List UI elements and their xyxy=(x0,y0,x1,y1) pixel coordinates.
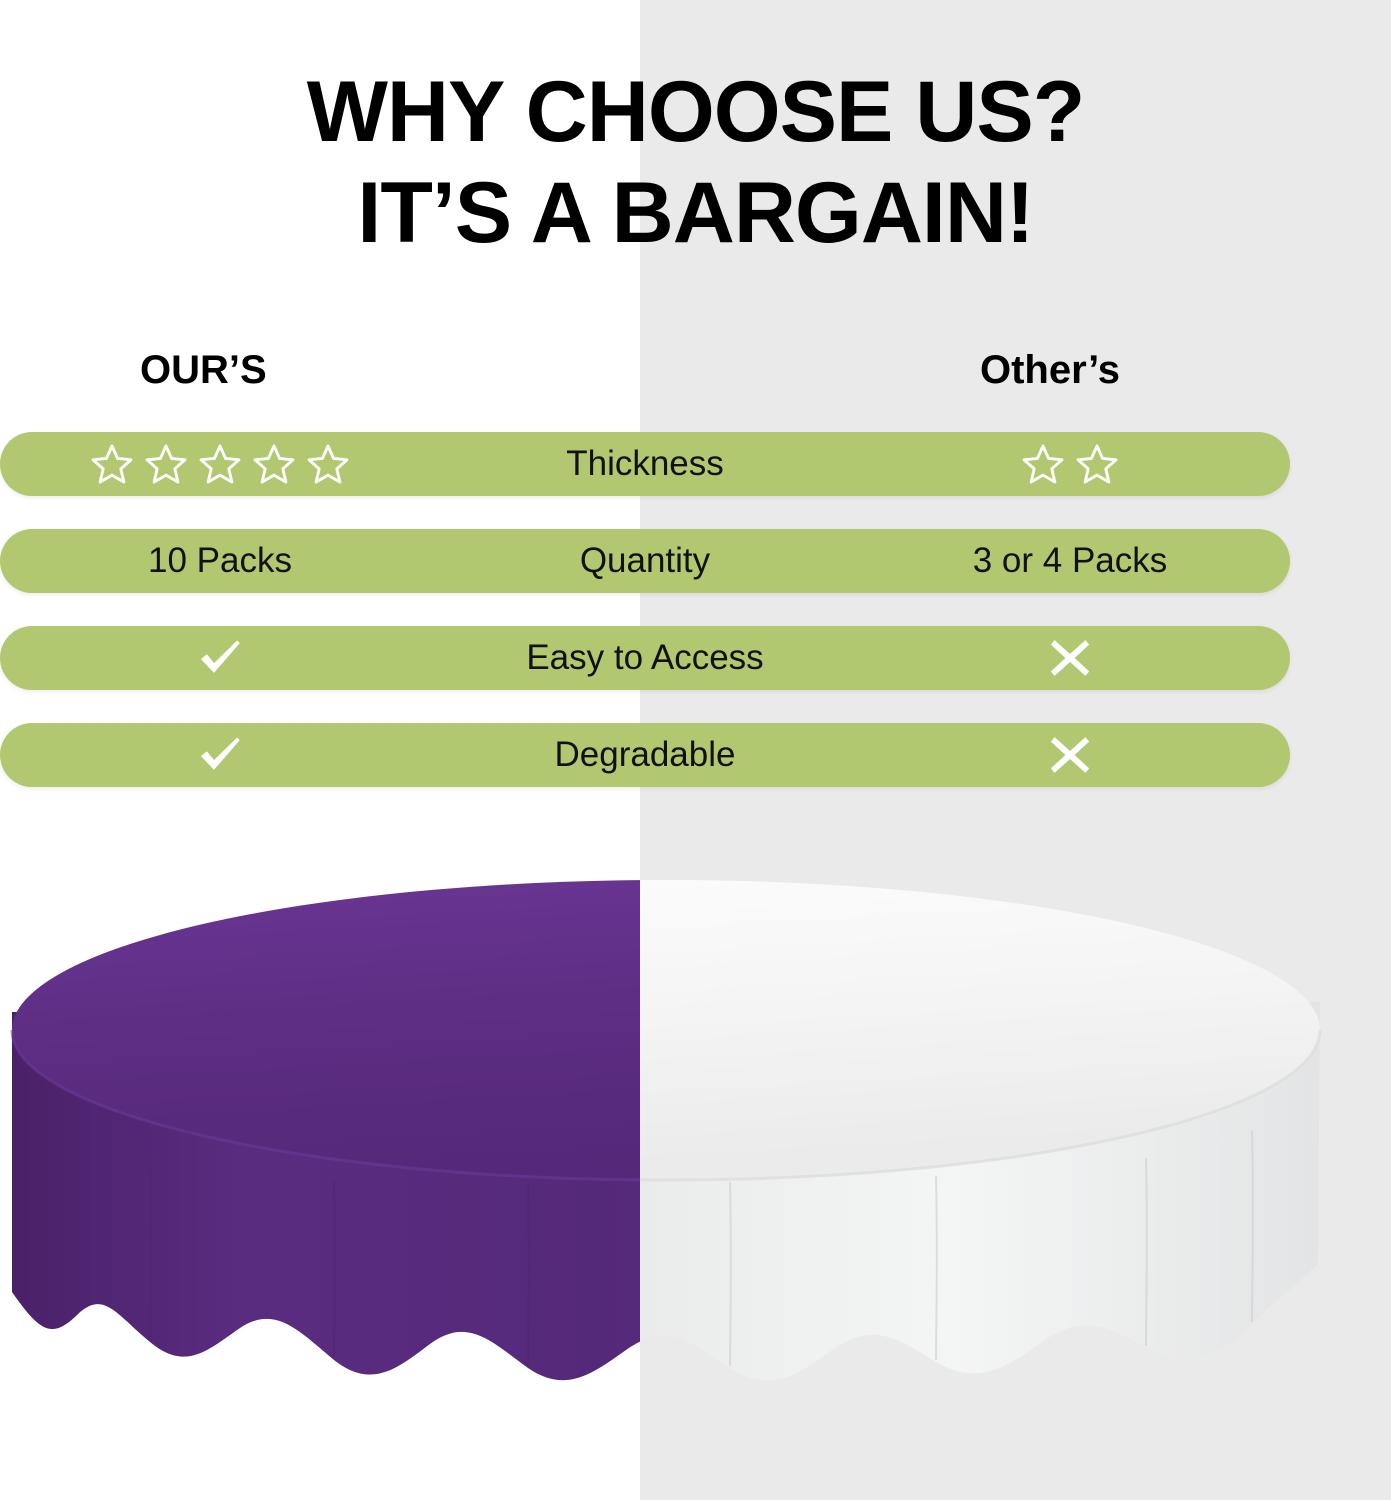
check-icon xyxy=(193,631,247,685)
comparison-table: Thickness10 PacksQuantity3 or 4 PacksEas… xyxy=(0,432,1391,820)
star-outline-icon xyxy=(305,441,351,487)
star-outline-icon xyxy=(1020,441,1066,487)
cell-value-ours: 10 Packs xyxy=(148,541,292,581)
infographic-page: WHY CHOOSE US? IT’S A BARGAIN! OUR’S Oth… xyxy=(0,0,1391,1500)
star-outline-icon xyxy=(197,441,243,487)
feature-label: Thickness xyxy=(566,444,724,484)
feature-label: Easy to Access xyxy=(526,638,763,678)
star-outline-icon xyxy=(251,441,297,487)
cell-ours xyxy=(0,723,440,787)
cell-ours xyxy=(0,432,440,496)
cell-ours xyxy=(0,626,440,690)
star-rating-ours xyxy=(89,441,351,487)
star-outline-icon xyxy=(143,441,189,487)
comparison-row: Thickness xyxy=(0,432,1290,496)
cell-value-others: 3 or 4 Packs xyxy=(973,541,1168,581)
comparison-row: 10 PacksQuantity3 or 4 Packs xyxy=(0,529,1290,593)
cell-others xyxy=(850,432,1290,496)
check-icon xyxy=(193,728,247,782)
column-header-ours: OUR’S xyxy=(140,348,267,393)
cell-feature-label: Thickness xyxy=(440,432,850,496)
cell-ours: 10 Packs xyxy=(0,529,440,593)
cell-others xyxy=(850,626,1290,690)
cross-icon xyxy=(1045,730,1095,780)
cell-others xyxy=(850,723,1290,787)
product-image xyxy=(0,862,1391,1500)
cell-feature-label: Degradable xyxy=(440,723,850,787)
feature-label: Quantity xyxy=(580,541,710,581)
star-outline-icon xyxy=(1074,441,1120,487)
star-rating-others xyxy=(1020,441,1120,487)
cell-feature-label: Quantity xyxy=(440,529,850,593)
cell-others: 3 or 4 Packs xyxy=(850,529,1290,593)
headline-line-2: IT’S A BARGAIN! xyxy=(0,163,1391,264)
headline-line-1: WHY CHOOSE US? xyxy=(0,62,1391,163)
column-header-others: Other’s xyxy=(980,348,1120,393)
headline-block: WHY CHOOSE US? IT’S A BARGAIN! xyxy=(0,62,1391,265)
comparison-row: Degradable xyxy=(0,723,1290,787)
cross-icon xyxy=(1045,633,1095,683)
comparison-row: Easy to Access xyxy=(0,626,1290,690)
cell-feature-label: Easy to Access xyxy=(440,626,850,690)
tablecloth-illustration xyxy=(0,862,1391,1500)
star-outline-icon xyxy=(89,441,135,487)
feature-label: Degradable xyxy=(555,735,736,775)
